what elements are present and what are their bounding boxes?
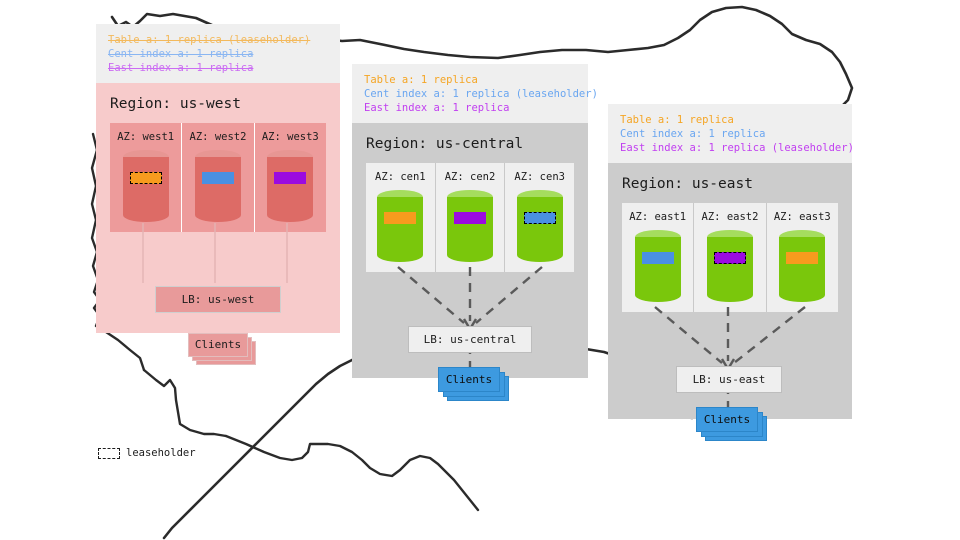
az-cen2[interactable]: AZ: cen2 bbox=[435, 163, 505, 272]
legend-line-east-index: East index a: 1 replica bbox=[364, 101, 576, 115]
clients-label-us-east[interactable]: Clients bbox=[696, 407, 758, 432]
node-cylinder-east3[interactable] bbox=[779, 230, 825, 302]
az-cen3[interactable]: AZ: cen3 bbox=[504, 163, 574, 272]
cylinder-body bbox=[123, 157, 169, 215]
range-replica bbox=[786, 252, 818, 264]
az-strip-us-east: AZ: east1 AZ: east2 bbox=[622, 203, 838, 312]
range-replica bbox=[642, 252, 674, 264]
load-balancer-us-central[interactable]: LB: us-central bbox=[408, 326, 532, 353]
node-cylinder-east1[interactable] bbox=[635, 230, 681, 302]
az-label-west3: AZ: west3 bbox=[255, 131, 326, 143]
region-body-us-west: Region: us-west AZ: west1 bbox=[96, 83, 340, 333]
region-legend-us-west: Table a: 1 replica (leaseholder) Cent in… bbox=[96, 24, 340, 83]
legend-line-east-index: East index a: 1 replica bbox=[108, 61, 328, 75]
region-title-us-central: Region: us-central bbox=[352, 123, 588, 163]
cylinder-body bbox=[517, 197, 563, 255]
az-label-east3: AZ: east3 bbox=[767, 211, 838, 223]
legend-line-table: Table a: 1 replica bbox=[364, 73, 576, 87]
diagram-canvas: Table a: 1 replica (leaseholder) Cent in… bbox=[0, 0, 960, 540]
region-panel-us-west[interactable]: Table a: 1 replica (leaseholder) Cent in… bbox=[96, 24, 340, 333]
az-label-cen2: AZ: cen2 bbox=[436, 171, 505, 183]
cylinder-body bbox=[635, 237, 681, 295]
az-east1[interactable]: AZ: east1 bbox=[622, 203, 693, 312]
clients-stack-us-central[interactable]: Clients bbox=[438, 367, 508, 401]
leaseholder-legend-label: leaseholder bbox=[126, 447, 196, 459]
az-west3[interactable]: AZ: west3 bbox=[254, 123, 326, 232]
az-west2[interactable]: AZ: west2 bbox=[181, 123, 253, 232]
node-cylinder-cen1[interactable] bbox=[377, 190, 423, 262]
cylinder-body bbox=[447, 197, 493, 255]
region-legend-us-east: Table a: 1 replica Cent index a: 1 repli… bbox=[608, 104, 852, 163]
az-label-east1: AZ: east1 bbox=[622, 211, 693, 223]
az-east3[interactable]: AZ: east3 bbox=[766, 203, 838, 312]
cylinder-body bbox=[267, 157, 313, 215]
range-replica-leaseholder bbox=[524, 212, 556, 224]
range-replica bbox=[202, 172, 234, 184]
region-panel-us-central[interactable]: Table a: 1 replica Cent index a: 1 repli… bbox=[352, 64, 588, 378]
cylinder-body bbox=[779, 237, 825, 295]
region-title-us-west: Region: us-west bbox=[96, 83, 340, 123]
region-legend-us-central: Table a: 1 replica Cent index a: 1 repli… bbox=[352, 64, 588, 123]
node-cylinder-west2[interactable] bbox=[195, 150, 241, 222]
az-label-cen1: AZ: cen1 bbox=[366, 171, 435, 183]
legend-line-table: Table a: 1 replica bbox=[620, 113, 840, 127]
node-cylinder-cen3[interactable] bbox=[517, 190, 563, 262]
legend-line-table: Table a: 1 replica (leaseholder) bbox=[108, 33, 328, 47]
region-body-us-central: Region: us-central AZ: cen1 bbox=[352, 123, 588, 378]
legend-line-cent-index: Cent index a: 1 replica bbox=[108, 47, 328, 61]
az-east2[interactable]: AZ: east2 bbox=[693, 203, 765, 312]
node-cylinder-west1[interactable] bbox=[123, 150, 169, 222]
dashed-rect-icon bbox=[98, 448, 120, 459]
cylinder-body bbox=[707, 237, 753, 295]
load-balancer-us-west[interactable]: LB: us-west bbox=[155, 286, 281, 313]
az-strip-us-central: AZ: cen1 AZ: cen2 bbox=[366, 163, 574, 272]
region-body-us-east: Region: us-east AZ: east1 bbox=[608, 163, 852, 419]
load-balancer-us-east[interactable]: LB: us-east bbox=[676, 366, 782, 393]
range-replica-leaseholder bbox=[714, 252, 746, 264]
node-cylinder-west3[interactable] bbox=[267, 150, 313, 222]
az-label-west1: AZ: west1 bbox=[110, 131, 181, 143]
az-strip-us-west: AZ: west1 AZ: west2 bbox=[110, 123, 326, 232]
node-cylinder-cen2[interactable] bbox=[447, 190, 493, 262]
legend-line-cent-index: Cent index a: 1 replica (leaseholder) bbox=[364, 87, 576, 101]
range-replica bbox=[274, 172, 306, 184]
region-panel-us-east[interactable]: Table a: 1 replica Cent index a: 1 repli… bbox=[608, 104, 852, 419]
node-cylinder-east2[interactable] bbox=[707, 230, 753, 302]
az-label-west2: AZ: west2 bbox=[182, 131, 253, 143]
clients-label-us-west[interactable]: Clients bbox=[188, 333, 248, 357]
cylinder-body bbox=[377, 197, 423, 255]
leaseholder-legend: leaseholder bbox=[98, 447, 196, 459]
az-label-east2: AZ: east2 bbox=[694, 211, 765, 223]
legend-line-cent-index: Cent index a: 1 replica bbox=[620, 127, 840, 141]
region-title-us-east: Region: us-east bbox=[608, 163, 852, 203]
clients-stack-us-east[interactable]: Clients bbox=[696, 407, 766, 441]
az-label-cen3: AZ: cen3 bbox=[505, 171, 574, 183]
clients-label-us-central[interactable]: Clients bbox=[438, 367, 500, 392]
legend-line-east-index: East index a: 1 replica (leaseholder) bbox=[620, 141, 840, 155]
range-replica bbox=[384, 212, 416, 224]
clients-stack-us-west[interactable]: Clients bbox=[188, 333, 252, 365]
az-cen1[interactable]: AZ: cen1 bbox=[366, 163, 435, 272]
az-west1[interactable]: AZ: west1 bbox=[110, 123, 181, 232]
cylinder-body bbox=[195, 157, 241, 215]
range-replica bbox=[454, 212, 486, 224]
range-replica-leaseholder bbox=[130, 172, 162, 184]
